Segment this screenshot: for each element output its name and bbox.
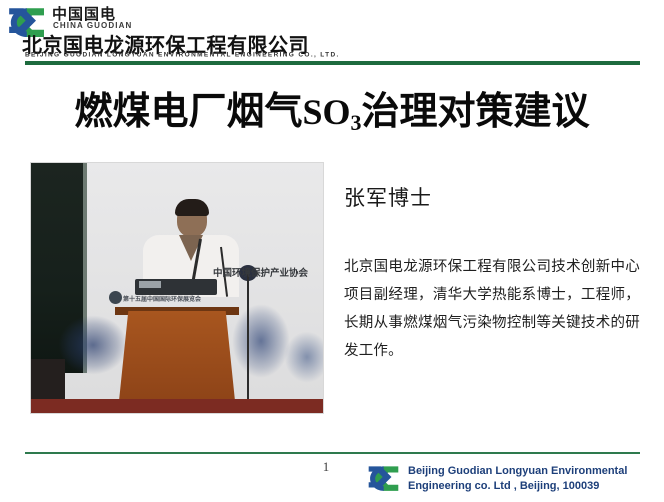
company-name-en: BEIJING GUODIAN LONGYUAN ENVIRONMENTAL E… [25, 51, 340, 58]
title-part-before: 燃煤电厂烟气 [74, 89, 302, 133]
page-number: 1 [315, 459, 337, 475]
speaker-name: 张军博士 [344, 182, 432, 212]
footer-divider [25, 452, 640, 454]
presenter-photo: 中国环境保护产业协会 第十五届中国国际环保展览会 [31, 163, 323, 413]
photo-laptop-screen [139, 281, 161, 288]
speaker-biography: 北京国电龙源环保工程有限公司技术创新中心项目副经理，清华大学热能系博士，工程师，… [344, 253, 640, 365]
title-formula: SO3 [302, 92, 361, 132]
photo-banner-caption: 中国环境保护产业协会 [213, 265, 308, 279]
photo-presenter-hair [175, 199, 209, 216]
presentation-slide: 中国国电 CHINA GUODIAN 北京国电龙源环保工程有限公司 BEIJIN… [0, 0, 664, 502]
formula-subscript: 3 [351, 110, 362, 135]
photo-podium [119, 311, 235, 401]
title-part-after: 治理对策建议 [362, 89, 590, 133]
footer-guodian-diamond-logo-icon [366, 463, 400, 495]
photo-floor [31, 399, 323, 413]
footer-line-1: Beijing Guodian Longyuan Environmental [408, 464, 627, 479]
footer-company-address: Beijing Guodian Longyuan Environmental E… [408, 464, 627, 493]
footer-line-2: Engineering co. Ltd , Beijing, 100039 [408, 479, 627, 494]
formula-main: SO [302, 92, 350, 132]
slide-header: 中国国电 CHINA GUODIAN 北京国电龙源环保工程有限公司 BEIJIN… [0, 0, 664, 62]
photo-banner-seal-icon [109, 291, 122, 304]
header-divider [25, 61, 640, 65]
photo-mic-stand [247, 273, 249, 401]
slide-title: 燃煤电厂烟气SO3治理对策建议 [0, 80, 664, 135]
photo-banner-subcaption: 第十五届中国国际环保展览会 [123, 294, 201, 303]
